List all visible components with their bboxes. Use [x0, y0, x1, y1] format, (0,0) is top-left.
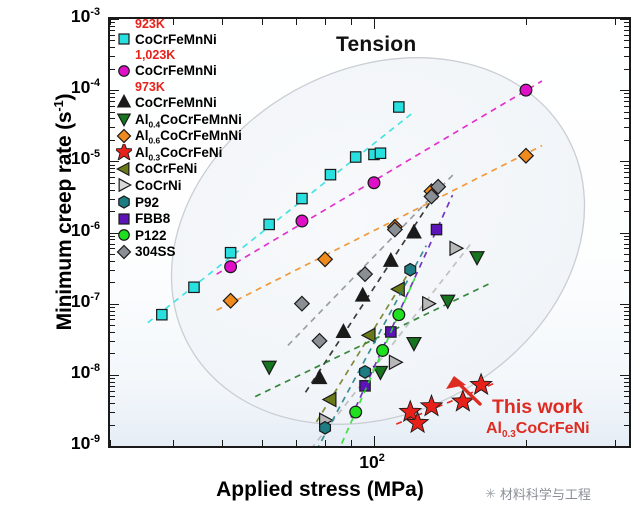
y-tick-exponent: -4: [90, 77, 100, 89]
y-minor-tick-right: [624, 311, 629, 312]
y-tick-exponent: -9: [90, 433, 100, 445]
legend-item[interactable]: Al0.3CoCrFeNi: [113, 144, 242, 161]
legend-item[interactable]: CoCrFeMnNi: [113, 31, 242, 48]
watermark-text: 材料科学与工程: [500, 484, 591, 503]
x-major-tick-top: [374, 19, 375, 29]
data-point-9-2: [431, 224, 441, 234]
triangle-down-green-icon: [113, 111, 135, 127]
legend-item[interactable]: CoCrFeMnNi: [113, 94, 242, 111]
y-minor-tick: [110, 307, 115, 308]
formula-prefix: Al: [486, 420, 502, 437]
y-minor-tick-right: [624, 26, 629, 27]
legend-marker-glyph: [118, 245, 131, 258]
data-point-8-1: [360, 366, 371, 378]
y-major-tick-right: [620, 375, 629, 376]
legend-marker-glyph: [119, 214, 129, 224]
y-minor-tick: [110, 332, 115, 333]
x-minor-tick: [325, 440, 326, 446]
legend-item-label: Al0.6CoCrFeMnNi: [135, 128, 242, 143]
circle-magenta-icon: [113, 63, 135, 79]
y-minor-tick-right: [624, 172, 629, 173]
y-minor-tick: [110, 311, 115, 312]
legend-formula-suffix: CoCrFeNi: [160, 145, 222, 160]
data-point-0-9: [394, 102, 404, 112]
y-axis-title-exponent: -1: [51, 100, 66, 111]
circle-green-icon: [113, 227, 135, 243]
legend-item-label: P122: [135, 228, 167, 243]
x-minor-tick-top: [526, 19, 527, 25]
legend-item-label: FBB8: [135, 211, 170, 226]
x-minor-tick-top: [262, 19, 263, 25]
y-minor-tick-right: [624, 56, 629, 57]
data-point-0-0: [157, 309, 167, 319]
x-minor-tick-top: [615, 19, 616, 25]
y-minor-tick: [110, 412, 115, 413]
triangle-up-black-icon: [113, 94, 135, 110]
data-point-0-6: [350, 152, 360, 162]
data-point-10-2: [393, 309, 405, 321]
y-minor-tick: [110, 341, 115, 342]
x-minor-tick: [262, 440, 263, 446]
y-minor-tick-right: [624, 69, 629, 70]
y-major-tick-right: [620, 446, 629, 447]
legend-formula-suffix: CoCrFeMnNi: [160, 112, 242, 127]
y-tick-mantissa: 10: [71, 433, 90, 453]
x-minor-tick-top: [296, 19, 297, 25]
x-minor-tick: [526, 440, 527, 446]
data-point-0-3: [264, 219, 274, 229]
y-tick-exponent: -5: [90, 149, 100, 161]
y-minor-tick-right: [624, 332, 629, 333]
legend-item[interactable]: CoCrFeNi: [113, 161, 242, 178]
legend-formula-prefix: Al: [135, 112, 149, 127]
y-minor-tick-right: [624, 30, 629, 31]
y-minor-tick: [110, 325, 115, 326]
x-axis-title: Applied stress (MPa): [180, 478, 460, 502]
y-axis-tick-label-2: 10-5: [42, 148, 100, 169]
legend-marker-glyph: [116, 144, 132, 160]
x-minor-tick: [296, 440, 297, 446]
x-tick-exponent: 2: [379, 452, 385, 464]
y-major-tick-right: [620, 304, 629, 305]
legend-formula-suffix: CoCrFeMnNi: [160, 128, 242, 143]
x-minor-tick-top: [110, 19, 111, 25]
y-minor-tick-right: [624, 40, 629, 41]
y-minor-tick-right: [624, 425, 629, 426]
y-major-tick: [110, 375, 119, 376]
square-cyan-icon: [113, 31, 135, 47]
y-axis-tick-label-1: 10-4: [42, 77, 100, 98]
y-tick-mantissa: 10: [71, 6, 90, 26]
y-minor-tick-right: [624, 396, 629, 397]
legend-marker-glyph: [119, 34, 129, 44]
legend-temperature-923K: 923K: [113, 16, 242, 31]
star-red-icon: [113, 144, 135, 160]
x-minor-tick: [110, 440, 111, 446]
y-axis-tick-label-6: 10-9: [42, 433, 100, 454]
legend-marker-glyph: [119, 179, 131, 191]
legend-item[interactable]: CoCrFeMnNi: [113, 63, 242, 80]
legend-temperature-1023K: 1,023K: [113, 48, 242, 63]
y-minor-tick: [110, 403, 115, 404]
square-purple-icon: [113, 211, 135, 227]
y-minor-tick-right: [624, 319, 629, 320]
triangle-right-gray-icon: [113, 177, 135, 193]
y-major-tick-right: [620, 161, 629, 162]
y-minor-tick-right: [624, 190, 629, 191]
chart-title: Tension: [336, 33, 416, 57]
y-minor-tick: [110, 315, 115, 316]
y-axis-tick-label-3: 10-6: [42, 220, 100, 241]
y-minor-tick: [110, 319, 115, 320]
data-point-1-3: [520, 84, 532, 96]
y-minor-tick: [110, 391, 115, 392]
y-major-tick-right: [620, 90, 629, 91]
this-work-label: This work: [492, 396, 583, 419]
y-major-tick: [110, 304, 119, 305]
legend-item[interactable]: P122: [113, 227, 242, 244]
watermark: ✳ 材料科学与工程: [485, 484, 591, 503]
y-minor-tick-right: [624, 378, 629, 379]
diamond-gray-icon: [113, 244, 135, 260]
y-minor-tick-right: [624, 165, 629, 166]
data-point-10-0: [350, 406, 362, 418]
data-point-8-0: [320, 422, 331, 434]
y-tick-mantissa: 10: [71, 148, 90, 168]
legend-formula-prefix: Al: [135, 145, 149, 160]
legend: 923KCoCrFeMnNi1,023KCoCrFeMnNi973KCoCrFe…: [113, 16, 242, 260]
y-minor-tick-right: [624, 112, 629, 113]
y-minor-tick-right: [624, 382, 629, 383]
x-axis-tick-label-100: 102: [347, 452, 397, 473]
legend-item-label: CoCrFeMnNi: [135, 95, 217, 110]
y-tick-exponent: -7: [90, 291, 100, 303]
legend-item[interactable]: Al0.6CoCrFeMnNi: [113, 127, 242, 144]
y-minor-tick-right: [624, 168, 629, 169]
y-tick-mantissa: 10: [71, 362, 90, 382]
y-minor-tick: [110, 353, 115, 354]
legend-marker-glyph: [117, 163, 129, 175]
y-minor-tick-right: [624, 391, 629, 392]
legend-item-label: P92: [135, 195, 159, 210]
y-tick-mantissa: 10: [71, 291, 90, 311]
y-tick-exponent: -3: [90, 6, 100, 18]
y-minor-tick-right: [624, 47, 629, 48]
y-minor-tick-right: [624, 254, 629, 255]
data-point-1-0: [225, 261, 237, 273]
y-minor-tick: [110, 386, 115, 387]
x-minor-tick-top: [351, 19, 352, 25]
x-major-tick: [374, 436, 375, 446]
legend-item-label: 304SS: [135, 244, 176, 259]
y-minor-tick-right: [624, 325, 629, 326]
y-minor-tick-right: [624, 22, 629, 23]
y-minor-tick-right: [624, 93, 629, 94]
sparkle-icon: ✳: [485, 486, 496, 502]
y-minor-tick-right: [624, 244, 629, 245]
y-minor-tick: [110, 425, 115, 426]
legend-formula-prefix: Al: [135, 128, 149, 143]
legend-marker-glyph: [118, 129, 131, 142]
y-minor-tick-right: [624, 341, 629, 342]
y-minor-tick-right: [624, 118, 629, 119]
y-minor-tick: [110, 396, 115, 397]
y-minor-tick-right: [624, 140, 629, 141]
this-work-formula: Al0.3CoCrFeNi: [486, 420, 590, 438]
legend-item[interactable]: 304SS: [113, 244, 242, 261]
y-minor-tick-right: [624, 127, 629, 128]
x-minor-tick: [173, 440, 174, 446]
y-axis-tick-label-0: 10-3: [42, 6, 100, 27]
y-minor-tick-right: [624, 106, 629, 107]
y-minor-tick: [110, 282, 115, 283]
y-major-tick-right: [620, 233, 629, 234]
y-minor-tick-right: [624, 353, 629, 354]
y-minor-tick-right: [624, 183, 629, 184]
y-tick-exponent: -8: [90, 362, 100, 374]
formula-suffix: CoCrFeNi: [516, 420, 590, 437]
x-minor-tick: [222, 440, 223, 446]
y-minor-tick-right: [624, 101, 629, 102]
legend-item-label: CoCrFeNi: [135, 161, 197, 176]
y-minor-tick: [110, 382, 115, 383]
legend-item[interactable]: P92: [113, 194, 242, 211]
legend-marker-glyph: [119, 196, 129, 208]
data-point-0-1: [189, 282, 199, 292]
legend-item-label: CoCrNi: [135, 178, 182, 193]
hexagon-teal-icon: [113, 194, 135, 210]
chart-root: Minimum creep rate (s-1) Applied stress …: [0, 0, 639, 518]
y-minor-tick-right: [624, 386, 629, 387]
y-tick-mantissa: 10: [71, 77, 90, 97]
y-minor-tick-right: [624, 35, 629, 36]
legend-marker-glyph: [119, 66, 130, 77]
y-minor-tick-right: [624, 261, 629, 262]
legend-marker-glyph: [118, 114, 130, 126]
data-point-1-1: [296, 215, 308, 227]
legend-item[interactable]: Al0.4CoCrFeMnNi: [113, 111, 242, 128]
legend-item[interactable]: CoCrNi: [113, 177, 242, 194]
y-minor-tick-right: [624, 412, 629, 413]
y-minor-tick: [110, 270, 115, 271]
triangle-left-olive-icon: [113, 161, 135, 177]
data-point-0-4: [297, 193, 307, 203]
y-minor-tick-right: [624, 315, 629, 316]
data-point-10-1: [377, 345, 389, 357]
y-minor-tick: [110, 261, 115, 262]
y-minor-tick-right: [624, 282, 629, 283]
data-point-0-5: [325, 169, 335, 179]
x-tick-mantissa: 10: [359, 452, 378, 472]
y-axis-title: Minimum creep rate (s-1): [53, 52, 77, 372]
x-minor-tick: [615, 440, 616, 446]
y-tick-mantissa: 10: [71, 220, 90, 240]
legend-item-label: Al0.4CoCrFeMnNi: [135, 112, 242, 127]
y-minor-tick-right: [624, 403, 629, 404]
y-axis-tick-label-5: 10-8: [42, 362, 100, 383]
legend-item-label: Al0.3CoCrFeNi: [135, 145, 222, 160]
legend-item[interactable]: FBB8: [113, 210, 242, 227]
data-point-8-2: [405, 263, 416, 275]
legend-item-label: CoCrFeMnNi: [135, 63, 217, 78]
y-minor-tick-right: [624, 199, 629, 200]
y-major-tick: [110, 446, 119, 447]
legend-item-label: CoCrFeMnNi: [135, 32, 217, 47]
y-major-tick-right: [620, 19, 629, 20]
y-minor-tick-right: [624, 248, 629, 249]
data-point-0-8: [375, 148, 385, 158]
y-minor-tick-right: [624, 239, 629, 240]
y-minor-tick-right: [624, 97, 629, 98]
x-minor-tick: [351, 440, 352, 446]
legend-marker-glyph: [118, 96, 130, 108]
data-point-1-2: [368, 177, 380, 189]
y-minor-tick-right: [624, 270, 629, 271]
diamond-orange-icon: [113, 128, 135, 144]
y-minor-tick-right: [624, 177, 629, 178]
x-minor-tick-top: [325, 19, 326, 25]
y-minor-tick-right: [624, 307, 629, 308]
y-minor-tick: [110, 378, 115, 379]
y-minor-tick-right: [624, 236, 629, 237]
legend-temperature-973K: 973K: [113, 79, 242, 94]
legend-marker-glyph: [119, 230, 130, 241]
y-tick-exponent: -6: [90, 220, 100, 232]
formula-subscript: 0.3: [502, 429, 516, 440]
y-axis-tick-label-4: 10-7: [42, 291, 100, 312]
y-minor-tick-right: [624, 211, 629, 212]
